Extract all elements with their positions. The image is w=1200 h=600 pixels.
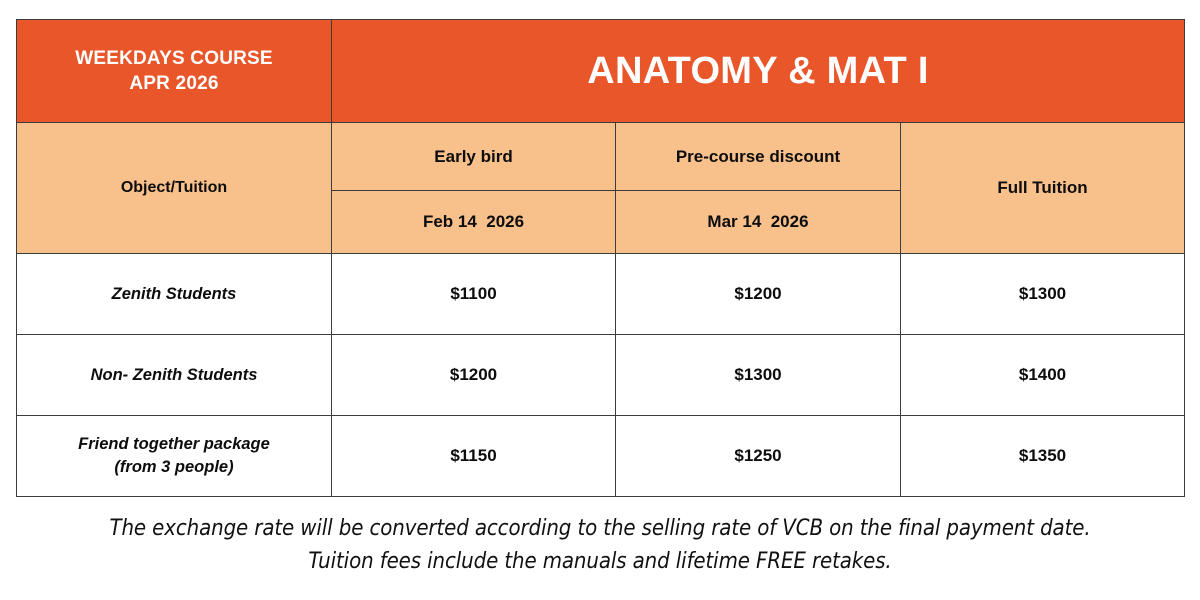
course-schedule-line-2: APR 2026 (17, 71, 331, 96)
tier-date-early-bird: Feb 14 2026 (332, 191, 616, 254)
course-schedule-line-1: WEEKDAYS COURSE (17, 46, 331, 71)
tier-name-pre-course-discount: Pre-course discount (616, 123, 901, 191)
price-non-zenith-full-tuition: $1400 (901, 335, 1185, 416)
table-row: Friend together package (from 3 people) … (17, 416, 1185, 497)
price-friend-package-full-tuition: $1350 (901, 416, 1185, 497)
subheader-tier-name-row: Object/Tuition Early bird Pre-course dis… (17, 123, 1185, 191)
price-zenith-early-bird: $1100 (332, 254, 616, 335)
price-non-zenith-pre-course: $1300 (616, 335, 901, 416)
price-friend-package-pre-course: $1250 (616, 416, 901, 497)
row-label-zenith-students: Zenith Students (17, 254, 332, 335)
tuition-pricing-table: WEEKDAYS COURSE APR 2026 ANATOMY & MAT I… (16, 19, 1185, 497)
price-friend-package-early-bird: $1150 (332, 416, 616, 497)
course-title: ANATOMY & MAT I (332, 20, 1185, 123)
footnote-line-1: The exchange rate will be converted acco… (0, 512, 1200, 545)
tier-date-pre-course-discount: Mar 14 2026 (616, 191, 901, 254)
row-label-friend-together-package: Friend together package (from 3 people) (17, 416, 332, 497)
table-row: Non- Zenith Students $1200 $1300 $1400 (17, 335, 1185, 416)
course-schedule-label: WEEKDAYS COURSE APR 2026 (17, 20, 332, 123)
price-non-zenith-early-bird: $1200 (332, 335, 616, 416)
object-tuition-header: Object/Tuition (17, 123, 332, 254)
footnote-line-2: Tuition fees include the manuals and lif… (0, 545, 1200, 578)
tier-name-full-tuition: Full Tuition (901, 123, 1185, 254)
row-label-line-1: Zenith Students (17, 283, 331, 306)
price-zenith-full-tuition: $1300 (901, 254, 1185, 335)
row-label-non-zenith-students: Non- Zenith Students (17, 335, 332, 416)
row-label-line-1: Friend together package (17, 433, 331, 456)
row-label-line-2: (from 3 people) (17, 456, 331, 479)
row-label-line-1: Non- Zenith Students (17, 364, 331, 387)
table-header-row: WEEKDAYS COURSE APR 2026 ANATOMY & MAT I (17, 20, 1185, 123)
price-zenith-pre-course: $1200 (616, 254, 901, 335)
tier-name-early-bird: Early bird (332, 123, 616, 191)
table-row: Zenith Students $1100 $1200 $1300 (17, 254, 1185, 335)
pricing-table-page: WEEKDAYS COURSE APR 2026 ANATOMY & MAT I… (0, 0, 1200, 600)
footnote: The exchange rate will be converted acco… (0, 512, 1200, 579)
